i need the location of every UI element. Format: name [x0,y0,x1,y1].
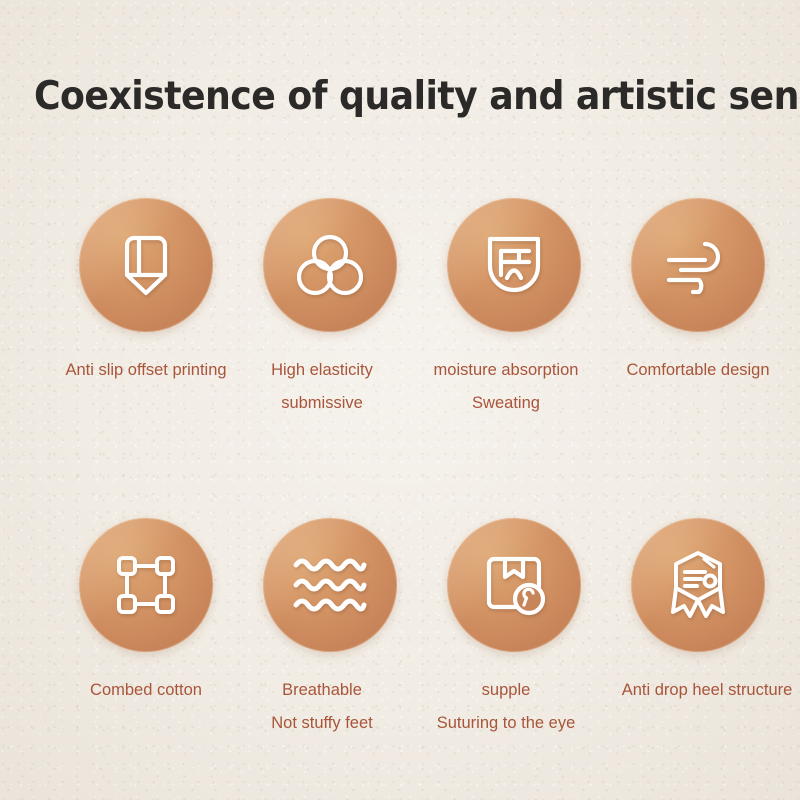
feature-caption: supple Suturing to the eye [437,674,576,740]
feature-item-high-elasticity[interactable]: High elasticity submissive [246,198,414,420]
feature-caption: Anti slip offset printing [65,354,226,387]
caption-line: Sweating [434,387,579,420]
feature-item-anti-drop-heel-structure[interactable]: Anti drop heel structure [614,518,782,740]
feature-icon-badge [79,198,213,332]
caption-line: moisture absorption [434,354,579,387]
feature-caption: moisture absorption Sweating [434,354,579,420]
caption-line: Anti slip offset printing [65,354,226,387]
caption-line: submissive [271,387,373,420]
box-wrench-icon [481,553,547,617]
wind-icon [665,234,731,296]
award-medal-icon [665,550,731,620]
caption-line: Breathable [271,674,373,707]
feature-icon-badge [263,198,397,332]
feature-row-top: Anti slip offset printing High elastici [0,198,800,420]
caption-line: Not stuffy feet [271,707,373,740]
feature-icon-badge [263,518,397,652]
three-circles-icon [297,233,363,297]
caption-line: Suturing to the eye [437,707,576,740]
caption-line: Combed cotton [90,674,202,707]
caption-line: High elasticity [271,354,373,387]
feature-caption: High elasticity submissive [271,354,373,420]
caption-line: Comfortable design [626,354,769,387]
feature-row-bottom: Combed cotton Breathable Not [0,518,800,740]
feature-icon-badge [631,198,765,332]
feature-grid: Anti slip offset printing High elastici [0,198,800,740]
feature-caption: Combed cotton [90,674,202,707]
caption-line: Anti drop heel structure [622,674,793,707]
feature-icon-badge [447,518,581,652]
caption-line: supple [437,674,576,707]
feature-caption: Anti drop heel structure [622,674,793,707]
feature-item-combed-cotton[interactable]: Combed cotton [62,518,230,740]
feature-icon-badge [447,198,581,332]
feature-caption: Comfortable design [626,354,769,387]
page-title: Coexistence of quality and artistic sens… [34,74,722,119]
pencil-icon [115,232,177,298]
feature-item-breathable[interactable]: Breathable Not stuffy feet [246,518,414,740]
feature-highlights-page: Coexistence of quality and artistic sens… [0,0,800,800]
feature-item-moisture-absorption[interactable]: moisture absorption Sweating [430,198,598,420]
feature-icon-badge [79,518,213,652]
fabric-nodes-icon [115,554,177,616]
feature-caption: Breathable Not stuffy feet [271,674,373,740]
feature-item-supple[interactable]: supple Suturing to the eye [430,518,598,740]
wavy-lines-icon [293,556,367,614]
shield-quality-icon [483,233,545,297]
feature-item-comfortable-design[interactable]: Comfortable design [614,198,782,420]
feature-item-anti-slip-offset-printing[interactable]: Anti slip offset printing [62,198,230,420]
feature-icon-badge [631,518,765,652]
